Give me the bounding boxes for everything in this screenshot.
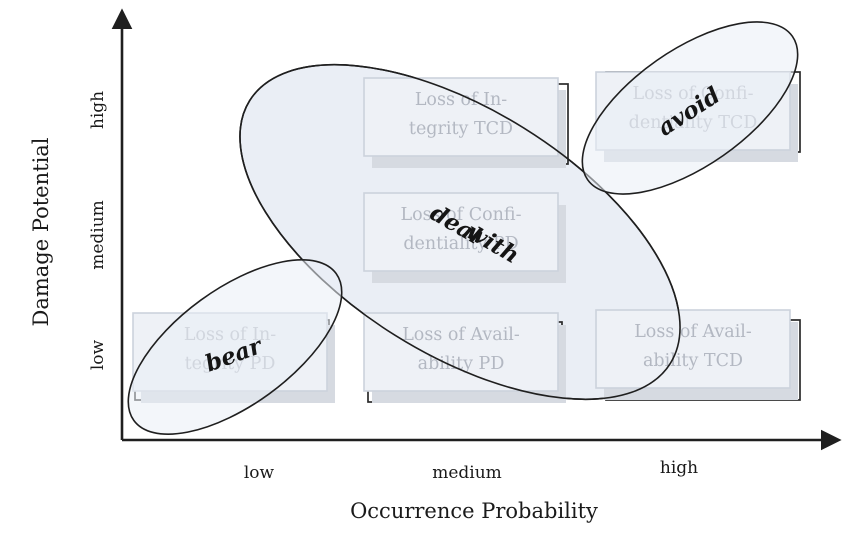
risk-matrix-svg: Loss of In- tegrity TCD Loss of Confi- d… <box>0 0 855 537</box>
box-label-line2: ability PD <box>418 354 505 374</box>
y-tick-low: low <box>88 339 108 370</box>
box-label-line1: Loss of Avail- <box>402 325 520 345</box>
y-tick-medium: medium <box>88 200 108 270</box>
box-loss-of-integrity-tcd[interactable]: Loss of In- tegrity TCD <box>364 78 568 168</box>
y-axis-title: Damage Potential <box>29 137 53 326</box>
diagram-canvas: Loss of In- tegrity TCD Loss of Confi- d… <box>0 0 855 537</box>
box-loss-of-availability-pd[interactable]: Loss of Avail- ability PD <box>364 313 566 403</box>
box-label-line1: Loss of In- <box>415 90 507 110</box>
box-label-line2: ability TCD <box>643 351 743 371</box>
box-label-line1: Loss of Avail- <box>634 322 752 342</box>
y-tick-high: high <box>88 91 108 129</box>
box-loss-of-availability-tcd[interactable]: Loss of Avail- ability TCD <box>596 310 800 400</box>
x-axis-title: Occurrence Probability <box>350 499 598 523</box>
x-tick-high: high <box>660 458 698 478</box>
box-label-line2: tegrity TCD <box>409 119 513 139</box>
x-tick-medium: medium <box>432 463 502 483</box>
x-tick-low: low <box>244 463 275 483</box>
